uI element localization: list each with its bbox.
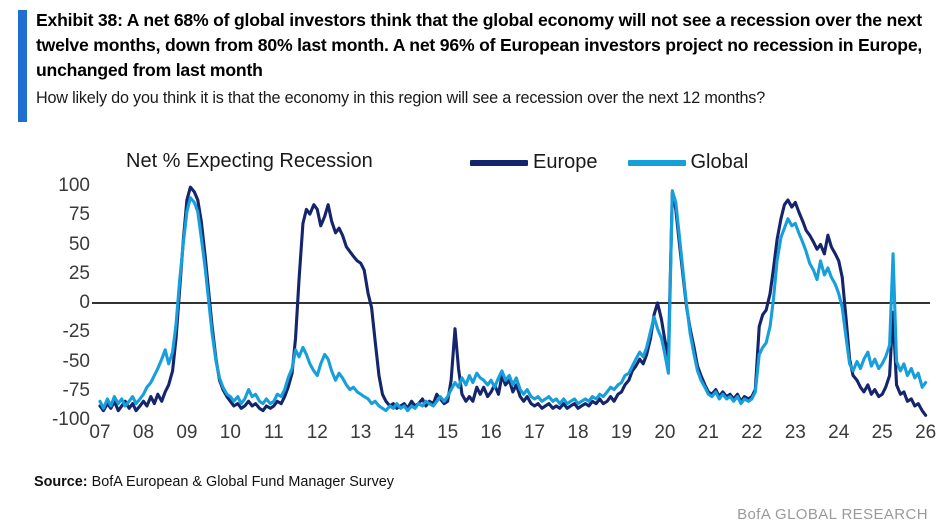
x-tick-label: 22 (741, 422, 762, 444)
source-label: Source: (34, 474, 88, 490)
x-tick-label: 10 (220, 422, 241, 444)
plot-lines (0, 140, 948, 460)
footer: Source: BofA European & Global Fund Mana… (0, 462, 948, 530)
x-axis: 0708091011121314151617181920212223242526 (0, 422, 948, 456)
series-line-global (100, 191, 926, 411)
x-tick-label: 20 (654, 422, 675, 444)
source-text: BofA European & Global Fund Manager Surv… (92, 474, 394, 490)
chart-container: Net % Expecting Recession Europe Global … (0, 140, 948, 460)
x-tick-label: 07 (89, 422, 110, 444)
x-tick-label: 13 (350, 422, 371, 444)
x-tick-label: 15 (437, 422, 458, 444)
x-tick-label: 25 (872, 422, 893, 444)
x-tick-label: 12 (307, 422, 328, 444)
x-tick-label: 26 (915, 422, 936, 444)
accent-bar (18, 10, 27, 122)
x-tick-label: 19 (611, 422, 632, 444)
exhibit-header: Exhibit 38: A net 68% of global investor… (0, 0, 948, 132)
x-tick-label: 16 (481, 422, 502, 444)
title-block: Exhibit 38: A net 68% of global investor… (36, 8, 934, 110)
page-title: Exhibit 38: A net 68% of global investor… (36, 8, 934, 83)
x-tick-label: 24 (828, 422, 849, 444)
x-tick-label: 11 (264, 422, 284, 444)
brand-line: BofA GLOBAL RESEARCH (737, 506, 928, 523)
page-subtitle: How likely do you think it is that the e… (36, 86, 934, 110)
x-tick-label: 21 (698, 422, 719, 444)
x-tick-label: 23 (785, 422, 806, 444)
source-line: Source: BofA European & Global Fund Mana… (34, 474, 394, 490)
x-tick-label: 18 (567, 422, 588, 444)
x-tick-label: 09 (176, 422, 197, 444)
x-tick-label: 08 (133, 422, 154, 444)
x-tick-label: 14 (394, 422, 415, 444)
x-tick-label: 17 (524, 422, 545, 444)
